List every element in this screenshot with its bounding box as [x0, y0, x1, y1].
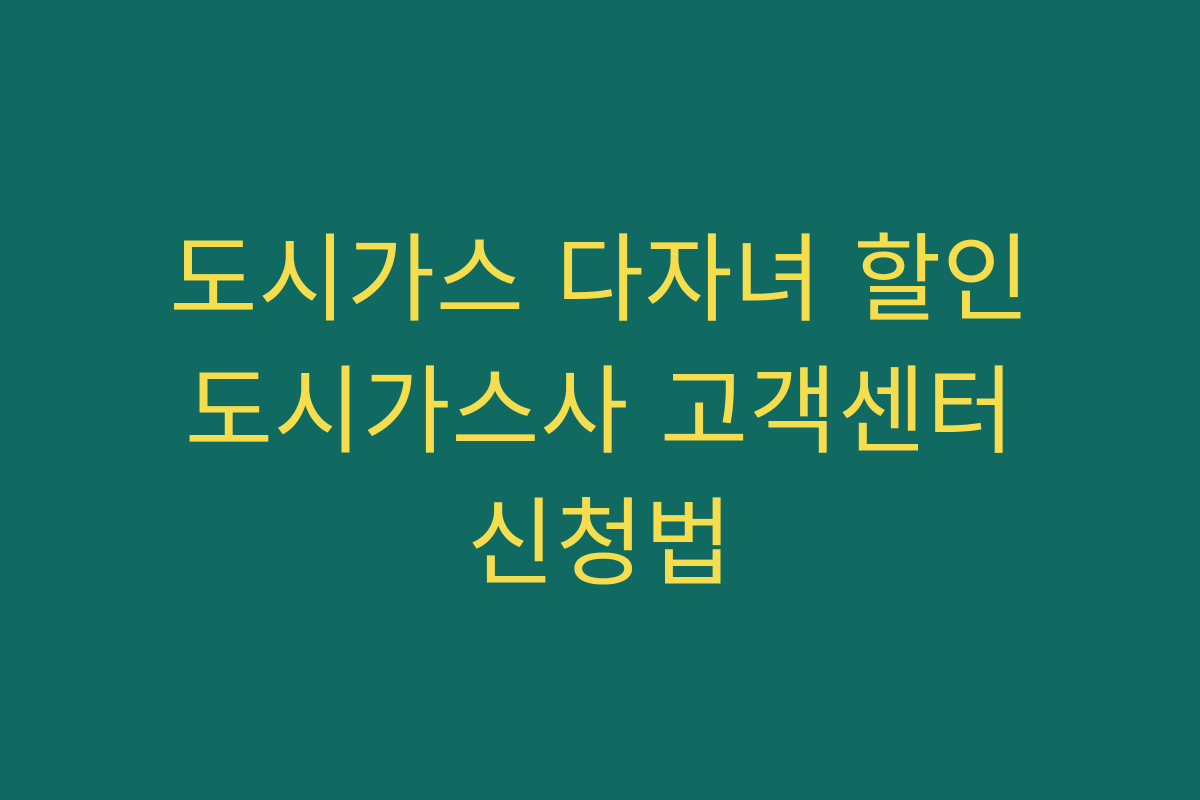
- page-title: 도시가스 다자녀 할인 도시가스사 고객센터 신청법: [80, 214, 1120, 610]
- banner-card: 도시가스 다자녀 할인 도시가스사 고객센터 신청법: [0, 0, 1200, 800]
- title-block: 도시가스 다자녀 할인 도시가스사 고객센터 신청법: [80, 190, 1120, 610]
